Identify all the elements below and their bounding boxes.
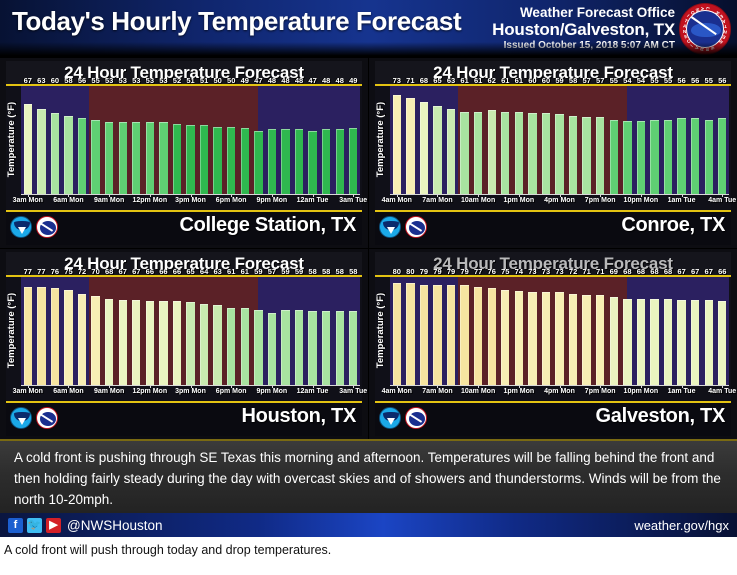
bar-item: 53 <box>130 86 144 194</box>
bar-value-label: 60 <box>51 76 59 85</box>
bar-value-label: 68 <box>623 267 631 276</box>
bar-series: 7777767572706867676666666564636161595759… <box>21 277 360 385</box>
bar-item: 58 <box>62 86 76 194</box>
bar-item: 59 <box>553 86 567 194</box>
bar-value-label: 55 <box>610 76 618 85</box>
website-url[interactable]: weather.gov/hgx <box>634 518 729 533</box>
bar: 72 <box>569 294 577 385</box>
twitter-icon[interactable]: 🐦 <box>27 518 42 533</box>
bar-value-label: 59 <box>254 267 262 276</box>
social-handle[interactable]: @NWSHouston <box>67 518 162 533</box>
bar-item: 79 <box>417 277 431 385</box>
bar-value-label: 55 <box>705 76 713 85</box>
bar: 47 <box>254 131 262 194</box>
bar: 70 <box>91 296 99 385</box>
bar-value-label: 69 <box>610 267 618 276</box>
bar-item: 47 <box>252 86 266 194</box>
bar-item: 67 <box>116 277 130 385</box>
bar-item: 55 <box>89 86 103 194</box>
axis-tick-label: 10am Mon <box>461 388 495 395</box>
bar: 67 <box>705 300 713 385</box>
bar-value-label: 79 <box>447 267 455 276</box>
bar-item: 54 <box>634 86 648 194</box>
chart-plot-area: Temperature (°F) 80807979797977767574737… <box>375 277 731 401</box>
axis-tick-label: 12pm Mon <box>133 388 168 395</box>
bar-value-label: 61 <box>515 76 523 85</box>
bar-item: 58 <box>319 277 333 385</box>
bar-value-label: 56 <box>78 76 86 85</box>
bar: 51 <box>186 125 194 194</box>
bar-value-label: 68 <box>650 267 658 276</box>
bar: 53 <box>119 122 127 194</box>
bar-item: 60 <box>526 86 540 194</box>
y-axis-label: Temperature (°F) <box>5 277 19 383</box>
bar-item: 55 <box>648 86 662 194</box>
bar: 58 <box>569 116 577 194</box>
bar: 60 <box>51 113 59 194</box>
axis-tick-label: 1am Tue <box>668 388 696 395</box>
bar-value-label: 53 <box>146 76 154 85</box>
axis-tick-label: 3pm Mon <box>175 197 206 204</box>
bar: 80 <box>406 283 414 385</box>
bar-item: 58 <box>306 277 320 385</box>
bar-value-label: 71 <box>582 267 590 276</box>
bar-value-label: 53 <box>119 76 127 85</box>
bar-item: 65 <box>184 277 198 385</box>
bar: 55 <box>705 120 713 194</box>
panel-footer: Conroe, TX <box>375 212 731 245</box>
bar-series: 7371686563616162616160605958575755545455… <box>390 86 729 194</box>
bar-item: 53 <box>143 86 157 194</box>
bar: 52 <box>173 124 181 194</box>
bar-value-label: 47 <box>308 76 316 85</box>
bar-value-label: 52 <box>173 76 181 85</box>
agency-logos <box>379 407 427 429</box>
panel-galveston[interactable]: 24 Hour Temperature Forecast Temperature… <box>369 249 737 439</box>
bar: 61 <box>227 308 235 386</box>
bar-item: 68 <box>634 277 648 385</box>
bar-item: 57 <box>580 86 594 194</box>
panel-houston[interactable]: 24 Hour Temperature Forecast Temperature… <box>0 249 368 439</box>
bar-value-label: 75 <box>501 267 509 276</box>
bar-item: 63 <box>35 86 49 194</box>
bar: 73 <box>542 292 550 385</box>
axis-tick-label: 3am Tue <box>339 388 367 395</box>
office-name: Houston/Galveston, TX <box>492 20 675 39</box>
bar: 79 <box>433 285 441 385</box>
bar-item: 57 <box>593 86 607 194</box>
bar-item: 73 <box>390 86 404 194</box>
bar-value-label: 70 <box>91 267 99 276</box>
bar-item: 56 <box>688 86 702 194</box>
axis-tick-label: 3pm Mon <box>175 388 206 395</box>
bar: 68 <box>623 299 631 385</box>
bar-item: 53 <box>157 86 171 194</box>
bar: 63 <box>37 109 45 194</box>
bar-item: 49 <box>238 86 252 194</box>
bar-item: 61 <box>471 86 485 194</box>
bar: 48 <box>336 129 344 194</box>
bar-item: 48 <box>333 86 347 194</box>
issued-timestamp: Issued October 15, 2018 5:07 AM CT <box>492 39 675 52</box>
bar: 63 <box>213 305 221 385</box>
bar: 58 <box>308 311 316 385</box>
bar: 53 <box>132 122 140 194</box>
x-axis: 4am Mon7am Mon10am Mon1pm Mon4pm Mon7pm … <box>390 194 729 210</box>
bar-item: 61 <box>458 86 472 194</box>
office-block: Weather Forecast Office Houston/Galvesto… <box>492 5 675 52</box>
bar: 73 <box>393 95 401 194</box>
bar-value-label: 58 <box>349 267 357 276</box>
bar-item: 67 <box>675 277 689 385</box>
bar-item: 71 <box>593 277 607 385</box>
bar-value-label: 67 <box>691 267 699 276</box>
bar-value-label: 79 <box>433 267 441 276</box>
bar-item: 77 <box>21 277 35 385</box>
bar-value-label: 66 <box>173 267 181 276</box>
bar-item: 60 <box>539 86 553 194</box>
bar: 59 <box>295 310 303 385</box>
bar-item: 72 <box>566 277 580 385</box>
page-footer: f 🐦 ▶ @NWSHouston weather.gov/hgx <box>0 513 737 537</box>
axis-tick-label: 12am Tue <box>297 197 329 204</box>
bar: 54 <box>623 121 631 194</box>
bar: 53 <box>159 122 167 194</box>
bar-value-label: 67 <box>705 267 713 276</box>
axis-tick-label: 3am Tue <box>339 197 367 204</box>
axis-tick-label: 4pm Mon <box>544 197 575 204</box>
y-axis-label: Temperature (°F) <box>374 277 388 383</box>
bar-value-label: 57 <box>596 76 604 85</box>
axis-tick-label: 7pm Mon <box>585 197 616 204</box>
axis-tick-label: 12am Tue <box>297 388 329 395</box>
chart-plot-area: Temperature (°F) 67636058565553535353535… <box>6 86 362 210</box>
x-axis: 3am Mon6am Mon9am Mon12pm Mon3pm Mon6pm … <box>21 385 360 401</box>
bar-value-label: 48 <box>322 76 330 85</box>
noaa-logo-icon <box>379 407 401 429</box>
axis-tick-label: 6pm Mon <box>216 388 247 395</box>
bar-value-label: 73 <box>555 267 563 276</box>
bar-item: 70 <box>89 277 103 385</box>
bar: 67 <box>691 300 699 385</box>
bar-value-label: 79 <box>420 267 428 276</box>
agency-logos <box>10 407 58 429</box>
bar: 56 <box>78 118 86 194</box>
bar-value-label: 53 <box>159 76 167 85</box>
bar-item: 54 <box>621 86 635 194</box>
bar: 65 <box>186 302 194 385</box>
bar-item: 76 <box>485 277 499 385</box>
bar-value-label: 71 <box>406 76 414 85</box>
bar: 64 <box>200 304 208 385</box>
bar-item: 52 <box>170 86 184 194</box>
nws-logo-icon <box>36 407 58 429</box>
bar: 61 <box>515 112 523 194</box>
bar: 61 <box>501 112 509 194</box>
bar-value-label: 65 <box>186 267 194 276</box>
bar-item: 64 <box>197 277 211 385</box>
bar: 47 <box>308 131 316 194</box>
bar: 57 <box>582 117 590 194</box>
axis-tick-label: 10pm Mon <box>624 388 659 395</box>
panel-college-station[interactable]: 24 Hour Temperature Forecast Temperature… <box>0 58 368 248</box>
axis-tick-label: 7am Mon <box>422 197 452 204</box>
axis-tick-label: 3am Mon <box>13 197 43 204</box>
bar-item: 56 <box>675 86 689 194</box>
bar: 59 <box>254 310 262 385</box>
bar-value-label: 71 <box>596 267 604 276</box>
bar-item: 76 <box>48 277 62 385</box>
bar-value-label: 56 <box>677 76 685 85</box>
forecast-graphic: Today's Hourly Temperature Forecast Weat… <box>0 0 737 575</box>
bar-value-label: 72 <box>569 267 577 276</box>
bar: 57 <box>596 117 604 194</box>
bar-item: 53 <box>102 86 116 194</box>
bar-value-label: 77 <box>24 267 32 276</box>
panel-footer: College Station, TX <box>6 212 362 245</box>
bar-item: 68 <box>621 277 635 385</box>
bar-value-label: 63 <box>213 267 221 276</box>
page-header: Today's Hourly Temperature Forecast Weat… <box>0 0 737 58</box>
bar-item: 79 <box>431 277 445 385</box>
axis-tick-label: 6am Mon <box>53 197 83 204</box>
bar-value-label: 67 <box>119 267 127 276</box>
bar: 48 <box>281 129 289 194</box>
bar-value-label: 59 <box>295 267 303 276</box>
axis-tick-label: 9pm Mon <box>256 197 287 204</box>
axis-tick-label: 3am Mon <box>13 388 43 395</box>
noaa-logo-icon <box>379 216 401 238</box>
bar-item: 60 <box>48 86 62 194</box>
bar: 48 <box>322 129 330 194</box>
axis-tick-label: 4am Tue <box>708 197 736 204</box>
nws-logo-icon <box>36 216 58 238</box>
bar-item: 58 <box>333 277 347 385</box>
youtube-icon[interactable]: ▶ <box>46 518 61 533</box>
nws-logo-icon <box>405 216 427 238</box>
bar-value-label: 56 <box>691 76 699 85</box>
bar-value-label: 73 <box>393 76 401 85</box>
x-axis: 3am Mon6am Mon9am Mon12pm Mon3pm Mon6pm … <box>21 194 360 210</box>
bar-item: 55 <box>607 86 621 194</box>
bar-value-label: 59 <box>555 76 563 85</box>
bar-item: 71 <box>580 277 594 385</box>
bar: 66 <box>159 301 167 385</box>
bar-item: 63 <box>444 86 458 194</box>
bar-item: 65 <box>431 86 445 194</box>
axis-tick-label: 7am Mon <box>422 388 452 395</box>
bar-item: 61 <box>499 86 513 194</box>
bar: 68 <box>650 299 658 385</box>
bar-value-label: 67 <box>24 76 32 85</box>
bar-value-label: 60 <box>528 76 536 85</box>
noaa-logo-icon <box>10 216 32 238</box>
bar-value-label: 51 <box>186 76 194 85</box>
chart-plot-area: Temperature (°F) 77777675727068676766666… <box>6 277 362 401</box>
bar-value-label: 60 <box>542 76 550 85</box>
bar-value-label: 50 <box>227 76 235 85</box>
city-label: Houston, TX <box>242 405 356 428</box>
facebook-icon[interactable]: f <box>8 518 23 533</box>
social-links[interactable]: f 🐦 ▶ <box>8 518 61 533</box>
bar: 49 <box>241 128 249 194</box>
bar-value-label: 75 <box>64 267 72 276</box>
bar-item: 75 <box>499 277 513 385</box>
bar-value-label: 63 <box>447 76 455 85</box>
bar: 69 <box>610 297 618 385</box>
bar: 74 <box>515 291 523 385</box>
bar-item: 68 <box>661 277 675 385</box>
bar-value-label: 66 <box>159 267 167 276</box>
bar: 59 <box>555 114 563 194</box>
bar: 57 <box>268 313 276 385</box>
bar: 62 <box>488 110 496 194</box>
panel-footer: Houston, TX <box>6 403 362 436</box>
axis-tick-label: 6pm Mon <box>216 197 247 204</box>
axis-tick-label: 9am Mon <box>94 388 124 395</box>
bar: 73 <box>555 292 563 385</box>
bar: 56 <box>718 118 726 194</box>
panel-conroe[interactable]: 24 Hour Temperature Forecast Temperature… <box>369 58 737 248</box>
bar-item: 51 <box>184 86 198 194</box>
agency-logos <box>10 216 58 238</box>
bar-item: 74 <box>512 277 526 385</box>
bar-value-label: 66 <box>146 267 154 276</box>
bar-item: 77 <box>35 277 49 385</box>
bar-item: 50 <box>224 86 238 194</box>
x-axis: 4am Mon7am Mon10am Mon1pm Mon4pm Mon7pm … <box>390 385 729 401</box>
nws-seal-icon: NATIONAL WEATHER SERVICE <box>679 3 731 55</box>
bar: 76 <box>488 288 496 385</box>
bar-item: 75 <box>62 277 76 385</box>
city-label: College Station, TX <box>179 214 356 237</box>
bar-item: 73 <box>526 277 540 385</box>
image-caption: A cold front will push through today and… <box>0 537 737 575</box>
axis-tick-label: 9pm Mon <box>256 388 287 395</box>
axis-tick-label: 1pm Mon <box>503 197 534 204</box>
bar-item: 72 <box>75 277 89 385</box>
bar-value-label: 49 <box>349 76 357 85</box>
bar: 49 <box>349 128 357 194</box>
bar: 68 <box>664 299 672 385</box>
bar-value-label: 76 <box>51 267 59 276</box>
bar-value-label: 48 <box>336 76 344 85</box>
bar-item: 49 <box>347 86 361 194</box>
bar-value-label: 53 <box>132 76 140 85</box>
bar-item: 79 <box>444 277 458 385</box>
bar: 72 <box>78 294 86 385</box>
bar-item: 79 <box>458 277 472 385</box>
bar-item: 51 <box>197 86 211 194</box>
axis-tick-label: 1am Tue <box>668 197 696 204</box>
bar: 55 <box>91 120 99 194</box>
bar-value-label: 61 <box>501 76 509 85</box>
bar-value-label: 55 <box>91 76 99 85</box>
bar-item: 56 <box>75 86 89 194</box>
bar: 77 <box>474 287 482 385</box>
axis-tick-label: 12pm Mon <box>133 197 168 204</box>
bar-item: 48 <box>279 86 293 194</box>
bar-value-label: 62 <box>488 76 496 85</box>
bar-item: 69 <box>607 277 621 385</box>
bar: 67 <box>24 104 32 194</box>
bar: 48 <box>268 129 276 194</box>
bar-item: 47 <box>306 86 320 194</box>
bar-value-label: 58 <box>336 267 344 276</box>
bar-value-label: 61 <box>460 76 468 85</box>
bar: 58 <box>349 311 357 385</box>
bar: 55 <box>610 120 618 194</box>
bar: 61 <box>474 112 482 194</box>
bar: 60 <box>528 113 536 194</box>
bar-item: 58 <box>566 86 580 194</box>
bar-item: 66 <box>170 277 184 385</box>
bar-item: 61 <box>224 277 238 385</box>
bar-value-label: 66 <box>718 267 726 276</box>
bar: 77 <box>37 287 45 385</box>
bar-value-label: 54 <box>623 76 631 85</box>
bar: 71 <box>596 295 604 385</box>
bar-item: 48 <box>265 86 279 194</box>
bar-value-label: 72 <box>78 267 86 276</box>
bar-item: 77 <box>471 277 485 385</box>
axis-tick-label: 10pm Mon <box>624 197 659 204</box>
axis-tick-label: 6am Mon <box>53 388 83 395</box>
bar-item: 80 <box>390 277 404 385</box>
bar-item: 55 <box>661 86 675 194</box>
bar: 55 <box>650 120 658 194</box>
bar: 58 <box>322 311 330 385</box>
bar-item: 73 <box>553 277 567 385</box>
discussion-text: A cold front is pushing through SE Texas… <box>0 441 737 513</box>
bar-item: 61 <box>512 86 526 194</box>
bar-item: 66 <box>157 277 171 385</box>
bar-value-label: 58 <box>64 76 72 85</box>
bar-value-label: 80 <box>406 267 414 276</box>
bar: 61 <box>460 112 468 194</box>
bar: 59 <box>281 310 289 385</box>
bar-item: 50 <box>211 86 225 194</box>
bar: 75 <box>64 290 72 385</box>
bar-item: 55 <box>702 86 716 194</box>
bar: 79 <box>460 285 468 385</box>
bar-value-label: 80 <box>393 267 401 276</box>
y-axis-label: Temperature (°F) <box>5 86 19 192</box>
bar-item: 59 <box>252 277 266 385</box>
city-label: Galveston, TX <box>596 405 725 428</box>
bar-item: 59 <box>292 277 306 385</box>
bar-value-label: 54 <box>637 76 645 85</box>
bar-item: 66 <box>716 277 730 385</box>
noaa-logo-icon <box>10 407 32 429</box>
bar-value-label: 58 <box>569 76 577 85</box>
bar: 66 <box>718 301 726 385</box>
bar-value-label: 73 <box>528 267 536 276</box>
bar-item: 67 <box>21 86 35 194</box>
bar: 79 <box>420 285 428 385</box>
bar: 66 <box>173 301 181 385</box>
bar: 53 <box>146 122 154 194</box>
axis-tick-label: 10am Mon <box>461 197 495 204</box>
bar: 67 <box>132 300 140 385</box>
bar: 50 <box>213 127 221 195</box>
bar: 51 <box>200 125 208 194</box>
bar-value-label: 55 <box>650 76 658 85</box>
bar: 54 <box>637 121 645 194</box>
bar-item: 53 <box>116 86 130 194</box>
chart-plot-area: Temperature (°F) 73716865636161626161606… <box>375 86 731 210</box>
bar-item: 48 <box>319 86 333 194</box>
